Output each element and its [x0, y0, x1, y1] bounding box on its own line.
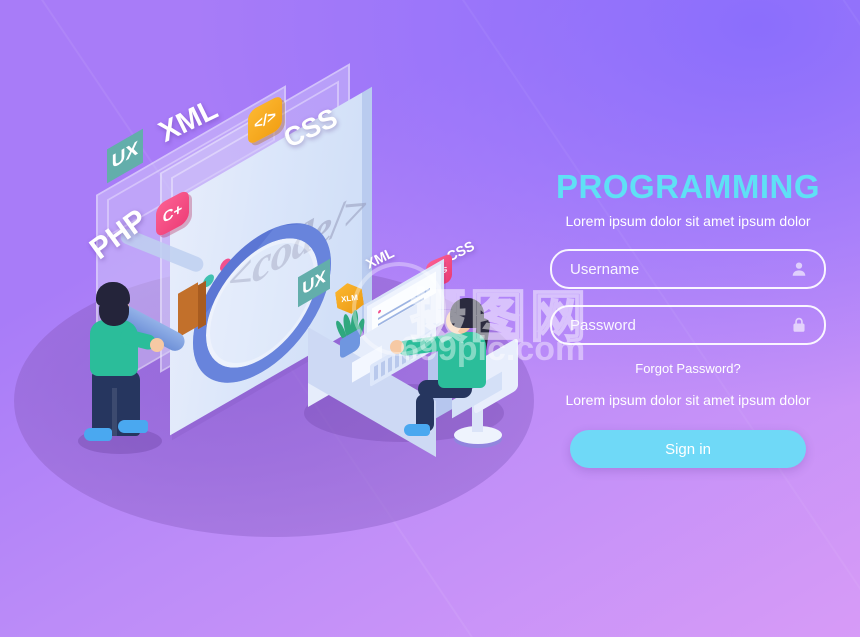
forgot-password-link[interactable]: Forgot Password? [530, 361, 846, 376]
password-field[interactable]: Password [550, 305, 826, 345]
man-torso [90, 320, 138, 376]
username-input-value: Username [552, 261, 639, 278]
man-shoe [84, 428, 112, 441]
man-hand [150, 338, 164, 352]
user-icon [790, 260, 808, 278]
panel-tagline: Lorem ipsum dolor sit amet ipsum dolor [530, 392, 846, 408]
illustration-canvas: <code/> PHP XML CSS XML CSS UX UX </> C+… [0, 0, 860, 637]
username-field[interactable]: Username [550, 249, 826, 289]
man-hair [96, 282, 130, 306]
man-shoe [118, 420, 148, 433]
woman-shoe [404, 424, 430, 436]
page-title: PROGRAMMING [530, 170, 846, 203]
standing-man-character [82, 282, 172, 452]
page-subtitle: Lorem ipsum dolor sit amet ipsum dolor [530, 213, 846, 229]
lock-icon [790, 316, 808, 334]
login-panel: PROGRAMMING Lorem ipsum dolor sit amet i… [530, 170, 846, 468]
isometric-scene: <code/> PHP XML CSS XML CSS UX UX </> C+… [0, 0, 560, 560]
password-input-value: Password [552, 317, 636, 334]
woman-hair [450, 298, 484, 328]
watermark-ring [352, 262, 446, 356]
sign-in-button[interactable]: Sign in [570, 430, 806, 468]
